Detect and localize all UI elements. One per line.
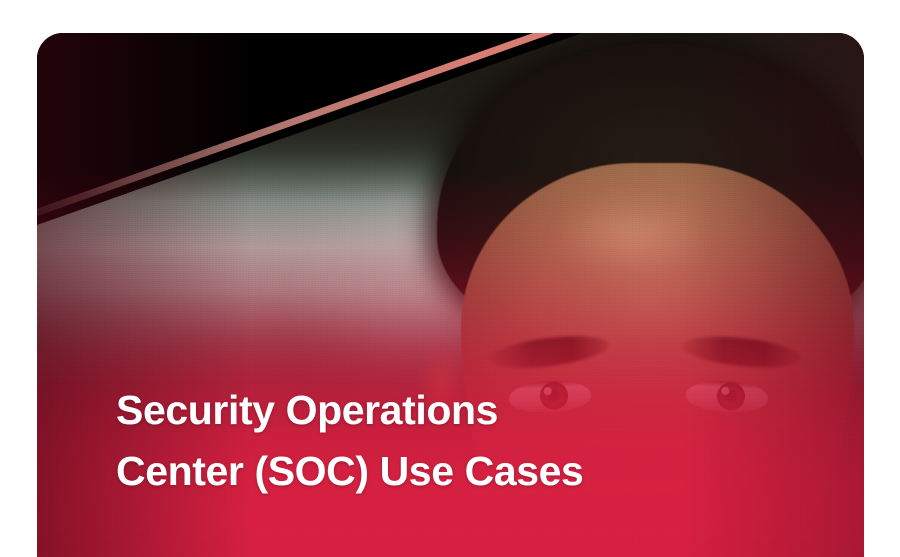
card-title: Security Operations Center (SOC) Use Cas…: [116, 380, 756, 502]
card-title-line-1: Security Operations: [116, 380, 756, 441]
card-title-line-2: Center (SOC) Use Cases: [116, 441, 756, 502]
page-root: Security Operations Center (SOC) Use Cas…: [0, 0, 900, 557]
hero-card[interactable]: Security Operations Center (SOC) Use Cas…: [37, 33, 864, 557]
